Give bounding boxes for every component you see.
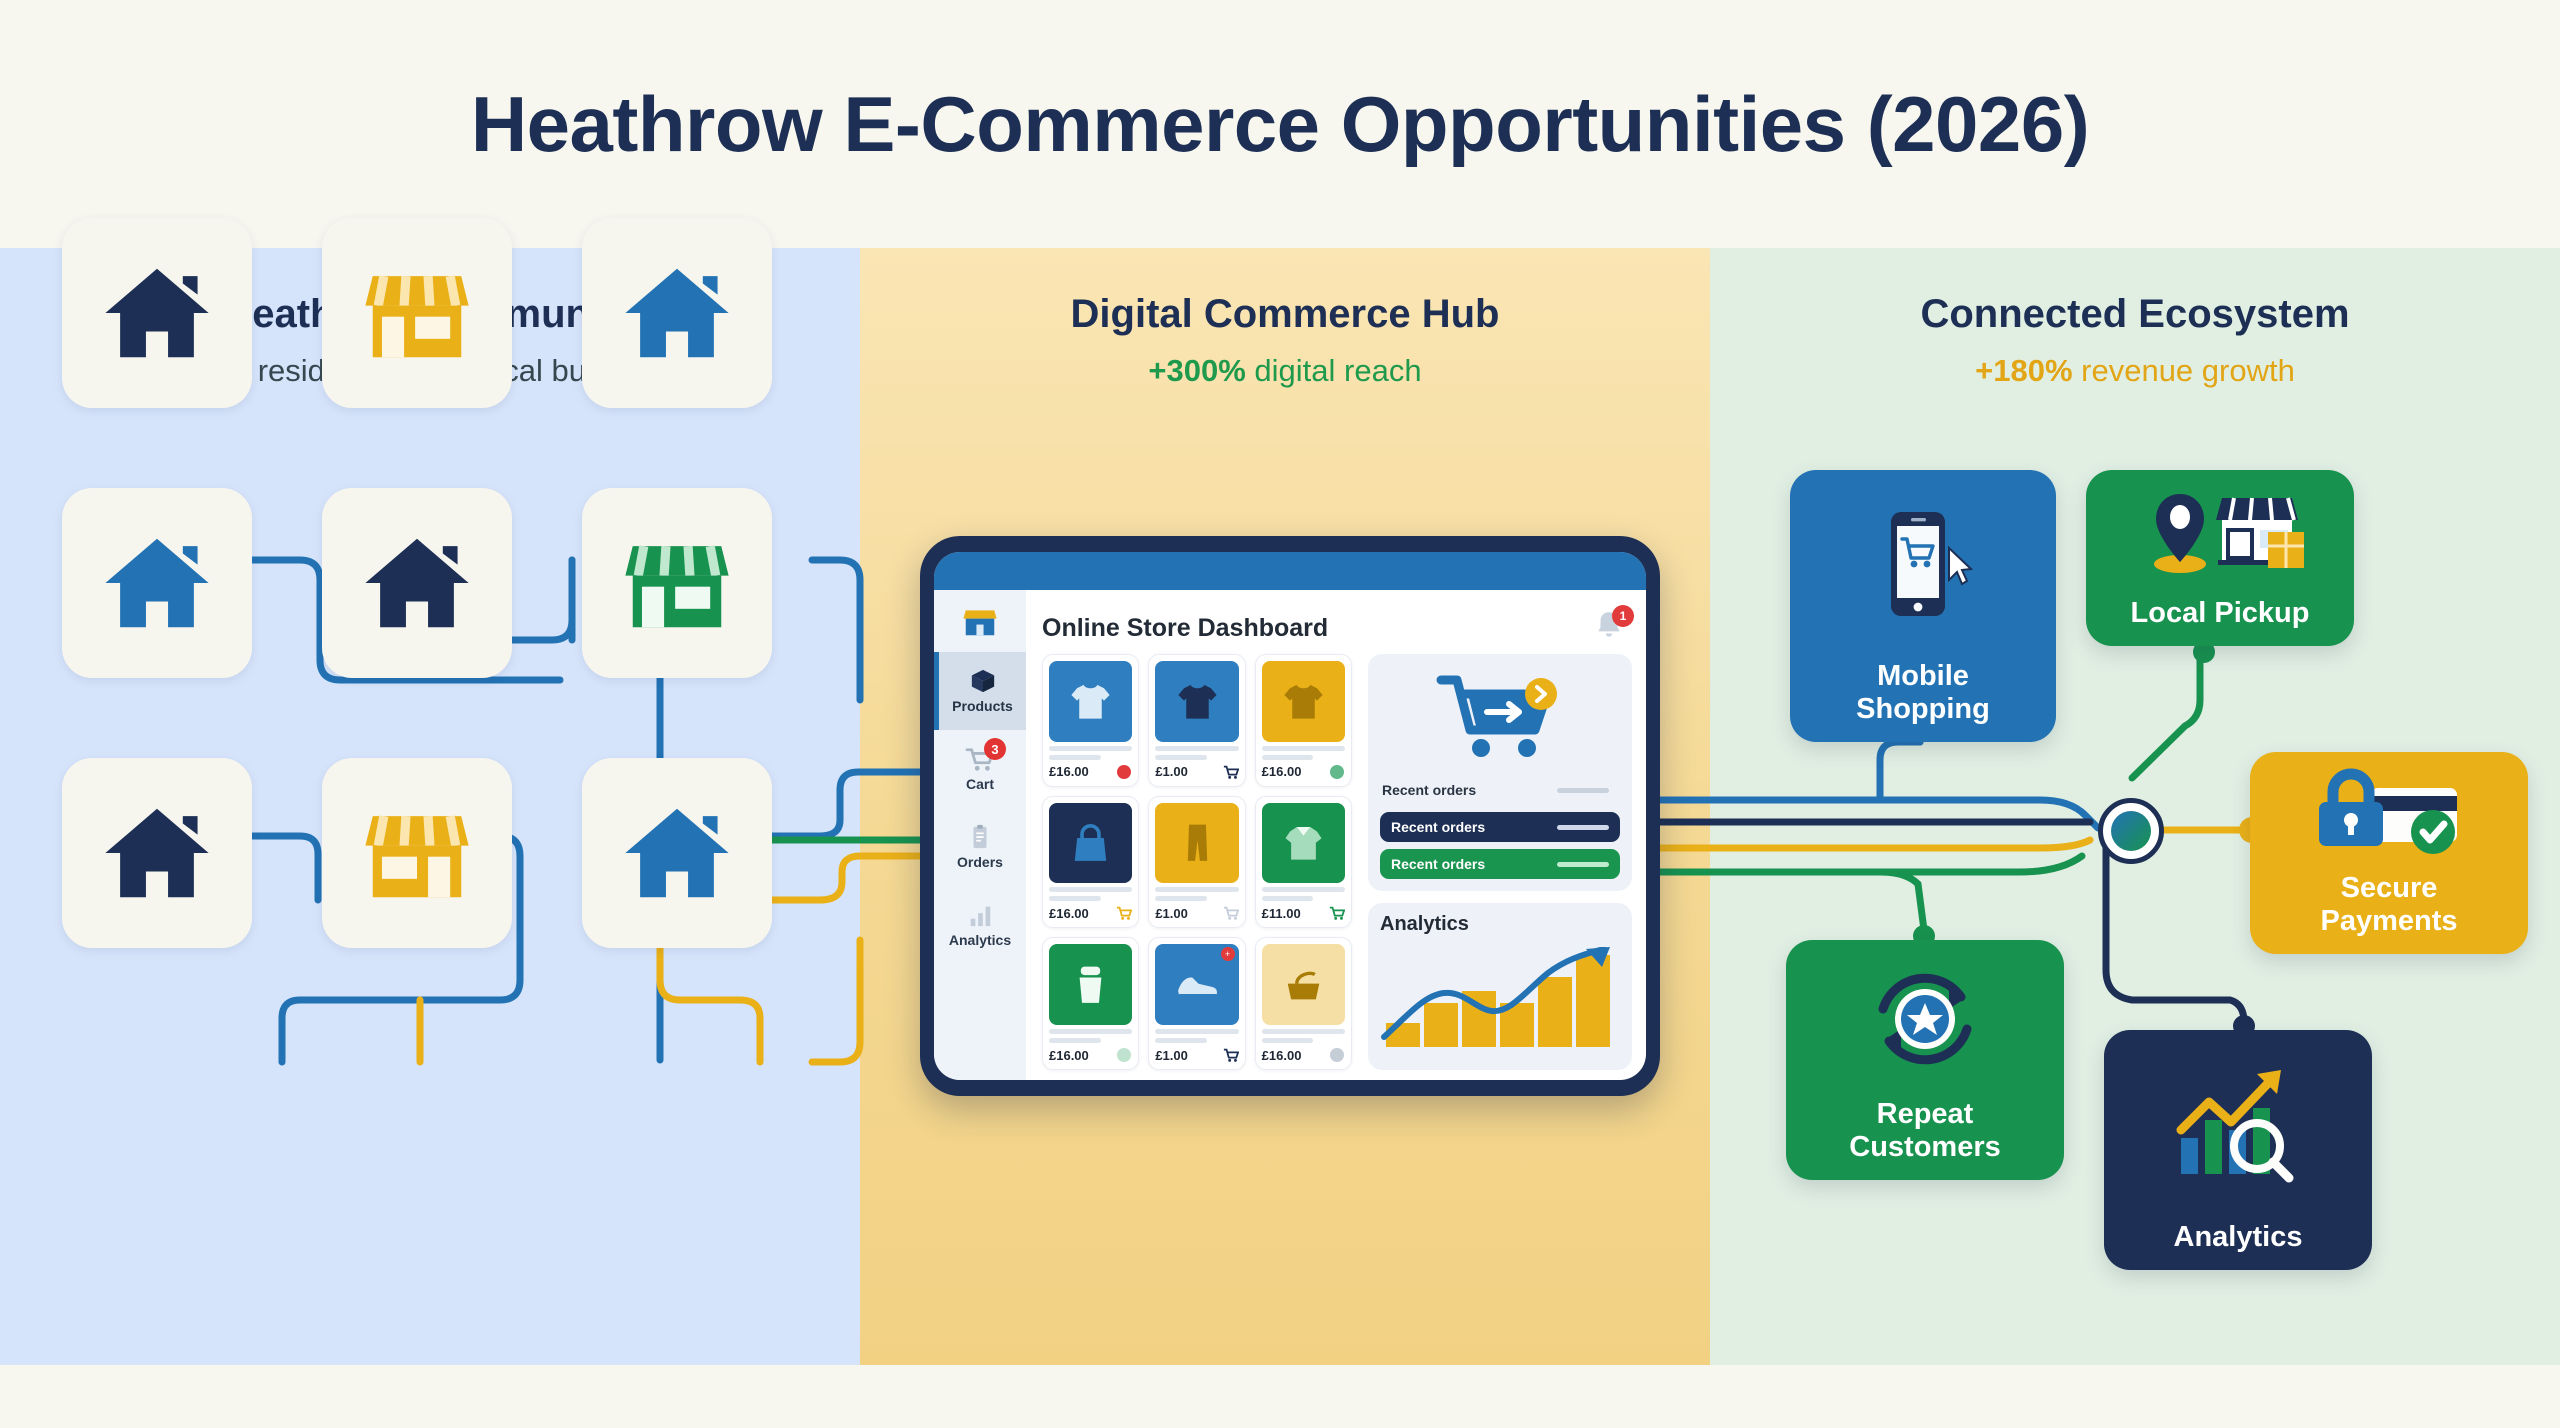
tablet-device: Products 3 Cart (920, 536, 1660, 1096)
product-card[interactable]: £16.00 (1042, 796, 1139, 929)
product-card[interactable]: £16.00 (1042, 937, 1139, 1070)
analytics-panel: Analytics (1368, 903, 1632, 1070)
product-footer: £1.00 (1155, 1047, 1238, 1063)
product-price: £16.00 (1049, 1048, 1089, 1063)
product-footer: £1.00 (1155, 905, 1238, 921)
product-skeleton (1049, 887, 1132, 892)
product-price: £1.00 (1155, 1048, 1188, 1063)
house-icon (98, 794, 216, 912)
community-node-house[interactable] (62, 488, 252, 678)
shop-icon (358, 794, 476, 912)
product-grid: £16.00 £1.00 (1042, 654, 1352, 1070)
product-skeleton (1049, 896, 1101, 901)
phone-cart-icon (1867, 506, 1979, 624)
sidebar-item-products[interactable]: Products (934, 652, 1026, 730)
ecosystem-card-analytics[interactable]: Analytics (2104, 1030, 2372, 1270)
product-thumb (1155, 661, 1238, 742)
store-icon (959, 602, 1001, 640)
add-to-cart-icon[interactable] (1223, 905, 1239, 921)
house-icon (98, 524, 216, 642)
product-price: £16.00 (1049, 764, 1089, 779)
order-label: Recent orders (1382, 782, 1476, 798)
house-icon (618, 254, 736, 372)
cart-badge: 3 (984, 738, 1006, 760)
box-icon (968, 668, 998, 694)
product-card[interactable]: £16.00 (1255, 937, 1352, 1070)
cart-panel: Recent orders Recent orders Recent order… (1368, 654, 1632, 891)
house-icon (618, 794, 736, 912)
community-node-grid (62, 218, 812, 948)
product-thumb: + (1155, 944, 1238, 1025)
product-price: £16.00 (1049, 906, 1089, 921)
chart-search-icon (2169, 1064, 2307, 1186)
community-node-house[interactable] (62, 758, 252, 948)
hub-header: Digital Commerce Hub +300% digital reach (860, 292, 1710, 389)
community-node-shop[interactable] (322, 758, 512, 948)
community-node-shop[interactable] (582, 488, 772, 678)
bell-badge: 1 (1612, 605, 1634, 627)
hub-stat: +300% (1148, 353, 1245, 388)
order-bar (1557, 825, 1609, 830)
product-skeleton (1155, 1038, 1207, 1043)
order-label: Recent orders (1391, 856, 1485, 872)
product-thumb (1049, 803, 1132, 884)
product-skeleton (1155, 746, 1238, 751)
cart-arrow-icon (1435, 668, 1565, 764)
card-icon-wrap (1786, 940, 2064, 1098)
cart-illustration (1380, 664, 1620, 768)
card-icon-wrap (2250, 752, 2528, 872)
add-to-cart-icon[interactable] (1329, 905, 1345, 921)
clipboard-icon (965, 824, 995, 850)
product-footer: £1.00 (1155, 764, 1238, 780)
analytics-chart (1380, 947, 1620, 1047)
sidebar-item-analytics[interactable]: Analytics (934, 886, 1026, 964)
product-skeleton (1262, 896, 1314, 901)
dashboard-right-panels: Recent orders Recent orders Recent order… (1368, 654, 1632, 1070)
analytics-panel-title: Analytics (1380, 913, 1620, 936)
add-to-cart-icon[interactable] (1116, 905, 1132, 921)
status-dot-icon (1329, 764, 1345, 780)
product-thumb (1262, 661, 1345, 742)
product-thumb (1262, 803, 1345, 884)
sidebar-label-orders: Orders (957, 854, 1003, 870)
tshirt-icon (1175, 680, 1220, 724)
ecosystem-header: Connected Ecosystem +180% revenue growth (1710, 292, 2560, 389)
tshirt-icon (1068, 680, 1113, 724)
dashboard-sidebar: Products 3 Cart (934, 590, 1026, 1080)
product-skeleton (1155, 887, 1238, 892)
ecosystem-subtitle: +180% revenue growth (1710, 353, 2560, 389)
sidebar-label-products: Products (952, 698, 1013, 714)
ecosystem-hub-node[interactable] (2098, 798, 2164, 864)
card-label-analytics: Analytics (2164, 1221, 2313, 1254)
order-row[interactable]: Recent orders (1380, 775, 1620, 805)
lock-card-icon (2309, 766, 2469, 858)
status-dot-icon (1116, 764, 1132, 780)
product-skeleton (1262, 1038, 1314, 1043)
product-card[interactable]: + £1.00 (1148, 937, 1245, 1070)
product-footer: £11.00 (1262, 905, 1345, 921)
order-label: Recent orders (1391, 819, 1485, 835)
community-node-house[interactable] (582, 218, 772, 408)
product-price: £16.00 (1262, 764, 1302, 779)
order-row[interactable]: Recent orders (1380, 812, 1620, 842)
product-price: £16.00 (1262, 1048, 1302, 1063)
store-logo (959, 590, 1001, 652)
order-bar (1557, 788, 1609, 793)
product-price: £1.00 (1155, 764, 1188, 779)
status-dot-icon (1116, 1047, 1132, 1063)
product-skeleton (1262, 755, 1314, 760)
order-row[interactable]: Recent orders (1380, 849, 1620, 879)
hub-title: Digital Commerce Hub (860, 292, 1710, 337)
hub-core (2111, 811, 2151, 851)
add-to-cart-icon[interactable] (1223, 1047, 1239, 1063)
ecosystem-card-local-pickup[interactable]: Local Pickup (2086, 470, 2354, 646)
product-flag-badge: + (1221, 947, 1235, 961)
sidebar-label-cart: Cart (966, 776, 994, 792)
community-node-shop[interactable] (322, 218, 512, 408)
product-card[interactable]: £1.00 (1148, 654, 1245, 787)
dashboard-title: Online Store Dashboard (1042, 614, 1328, 643)
community-node-house[interactable] (62, 218, 252, 408)
product-card[interactable]: £1.00 (1148, 796, 1245, 929)
product-skeleton (1049, 755, 1101, 760)
house-icon (358, 524, 476, 642)
ecosystem-card-repeat-customers[interactable]: RepeatCustomers (1786, 940, 2064, 1180)
dashboard-body: Products 3 Cart (934, 590, 1646, 1080)
product-footer: £16.00 (1262, 1047, 1345, 1063)
product-thumb (1049, 944, 1132, 1025)
ecosystem-title: Connected Ecosystem (1710, 292, 2560, 337)
loyalty-icon (1863, 957, 1987, 1081)
handbag-icon (1281, 963, 1326, 1007)
hub-subtitle: +300% digital reach (860, 353, 1710, 389)
card-icon-wrap (2086, 470, 2354, 597)
product-skeleton (1155, 1029, 1238, 1034)
card-label-mobile-shopping: MobileShopping (1846, 660, 2000, 726)
product-card[interactable]: £16.00 (1255, 654, 1352, 787)
product-thumb (1155, 803, 1238, 884)
product-footer: £16.00 (1262, 764, 1345, 780)
product-footer: £16.00 (1049, 764, 1132, 780)
notifications-button[interactable]: 1 (1592, 608, 1632, 648)
product-footer: £16.00 (1049, 905, 1132, 921)
product-skeleton (1049, 1038, 1101, 1043)
dashboard-columns: £16.00 £1.00 (1042, 654, 1632, 1070)
product-card[interactable]: £16.00 (1042, 654, 1139, 787)
shoe-icon (1175, 963, 1220, 1007)
shop-icon (358, 254, 476, 372)
product-skeleton (1262, 887, 1345, 892)
ecosystem-card-secure-payments[interactable]: SecurePayments (2250, 752, 2528, 954)
product-card[interactable]: £11.00 (1255, 796, 1352, 929)
sidebar-item-cart[interactable]: 3 Cart (934, 730, 1026, 808)
ecosystem-card-mobile-shopping[interactable]: MobileShopping (1790, 470, 2056, 742)
product-skeleton (1155, 755, 1207, 760)
pants-icon (1175, 821, 1220, 865)
card-label-local-pickup: Local Pickup (2121, 597, 2320, 630)
product-skeleton (1155, 896, 1207, 901)
page-title: Heathrow E-Commerce Opportunities (2026) (471, 79, 2089, 170)
card-label-secure-payments: SecurePayments (2310, 872, 2467, 938)
shop-icon (618, 524, 736, 642)
bars-icon (965, 902, 995, 928)
title-bar: Heathrow E-Commerce Opportunities (2026) (0, 0, 2560, 248)
tshirt-icon (1281, 680, 1326, 724)
product-price: £1.00 (1155, 906, 1188, 921)
tablet-screen: Products 3 Cart (934, 552, 1646, 1080)
community-node-house[interactable] (322, 488, 512, 678)
house-icon (98, 254, 216, 372)
product-skeleton (1262, 746, 1345, 751)
hoodie-icon (1281, 821, 1326, 865)
product-skeleton (1049, 746, 1132, 751)
dashboard-main: Online Store Dashboard 1 (1026, 590, 1646, 1080)
ecosystem-stat: +180% (1975, 353, 2072, 388)
sidebar-label-analytics: Analytics (949, 932, 1011, 948)
community-node-house[interactable] (582, 758, 772, 948)
product-thumb (1262, 944, 1345, 1025)
card-label-repeat-customers: RepeatCustomers (1839, 1098, 2011, 1164)
product-footer: £16.00 (1049, 1047, 1132, 1063)
dashboard-header: Online Store Dashboard 1 (1042, 602, 1632, 654)
card-icon-wrap (2104, 1030, 2372, 1221)
cup-icon (1068, 963, 1113, 1007)
product-skeleton (1262, 1029, 1345, 1034)
bag-icon (1068, 821, 1113, 865)
app-topbar (934, 552, 1646, 590)
order-bar (1557, 862, 1609, 867)
pin-store-icon (2136, 488, 2304, 578)
product-thumb (1049, 661, 1132, 742)
product-price: £11.00 (1262, 906, 1301, 921)
card-icon-wrap (1790, 470, 2056, 660)
add-to-cart-icon[interactable] (1223, 764, 1239, 780)
sidebar-item-orders[interactable]: Orders (934, 808, 1026, 886)
status-dot-icon (1329, 1047, 1345, 1063)
product-skeleton (1049, 1029, 1132, 1034)
ecosystem-sub-text: revenue growth (2073, 353, 2295, 388)
hub-sub-text: digital reach (1246, 353, 1422, 388)
